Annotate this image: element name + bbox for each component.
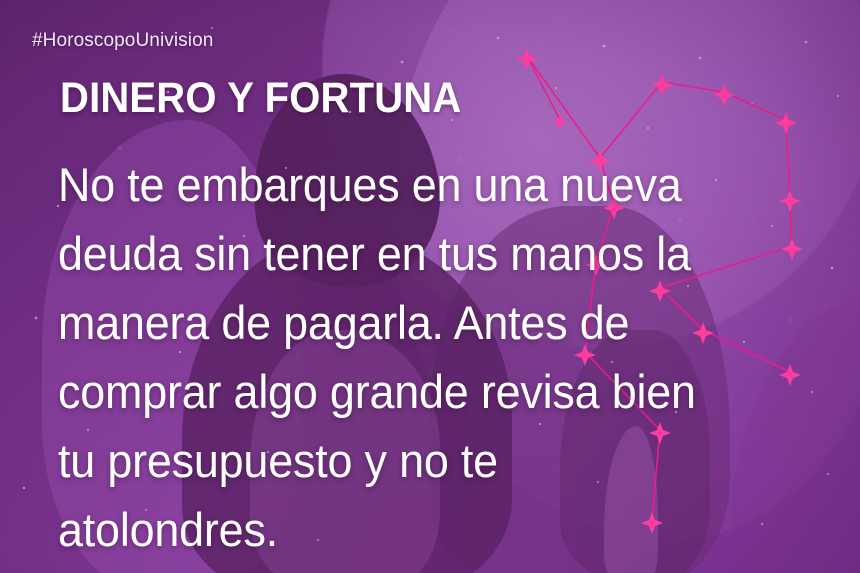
body-line: tu presupuesto y no te (58, 426, 812, 495)
horoscope-card: #HoroscopoUnivision DINERO Y FORTUNA No … (0, 0, 860, 573)
horoscope-body-text: No te embarques en una nueva deuda sin t… (58, 150, 812, 564)
body-line: comprar algo grande revisa bien (58, 357, 812, 426)
body-line: atolondres. (58, 495, 812, 564)
body-line: No te embarques en una nueva (58, 150, 812, 219)
body-line: deuda sin tener en tus manos la (58, 219, 812, 288)
page-title: DINERO Y FORTUNA (60, 77, 461, 120)
hashtag-label: #HoroscopoUnivision (32, 30, 213, 52)
body-line: manera de pagarla. Antes de (58, 288, 812, 357)
card-content: #HoroscopoUnivision DINERO Y FORTUNA No … (0, 0, 860, 573)
